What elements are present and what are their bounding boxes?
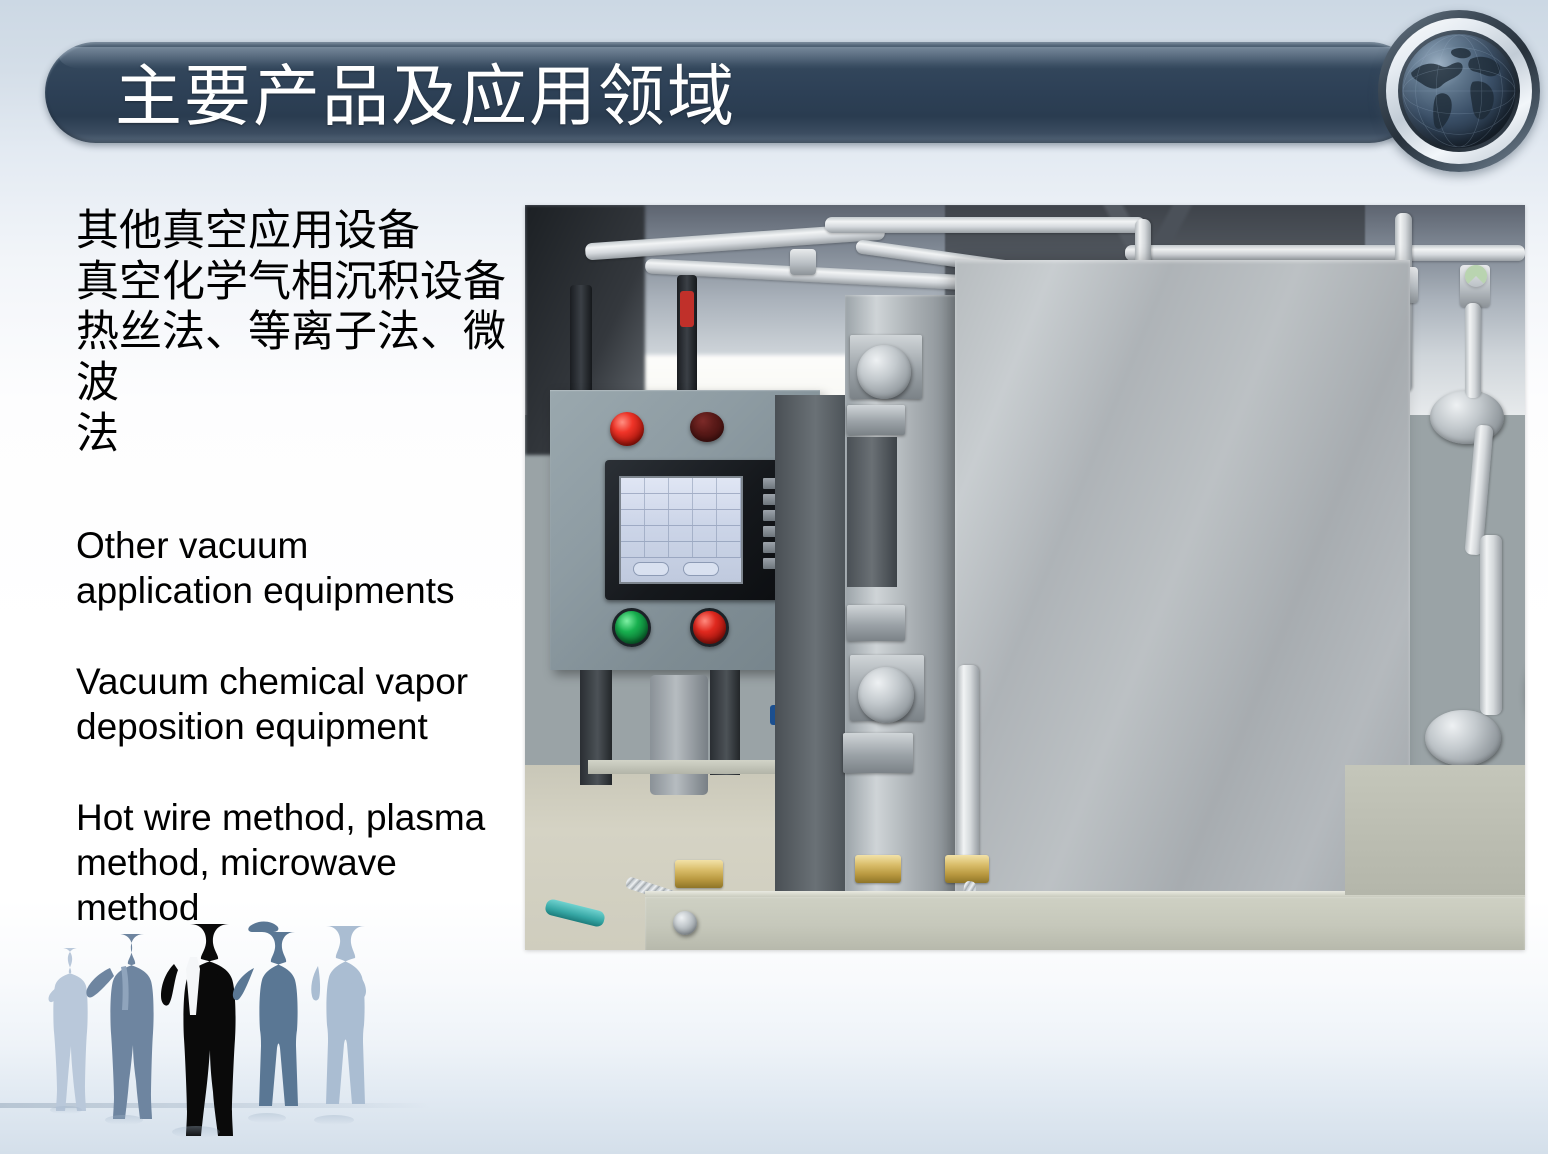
chinese-line-3: 热丝法、等离子法、微波 <box>76 308 516 409</box>
english-line: method, microwave <box>76 840 516 885</box>
hmi-cell <box>621 494 645 509</box>
hmi-table-row <box>621 542 741 558</box>
hmi-cell <box>717 494 741 509</box>
hmi-table-row <box>621 526 741 542</box>
hinge-knob <box>857 345 911 399</box>
machine-lower-panel <box>1345 765 1525 895</box>
door-clamp <box>847 405 905 435</box>
hmi-table-row <box>621 510 741 526</box>
spacer <box>76 613 516 659</box>
hmi-cell <box>645 478 669 493</box>
photo-pipe <box>1480 535 1502 715</box>
slide-canvas: 主要产品及应用领域 <box>0 0 1548 1154</box>
photo-red-valve <box>680 291 694 327</box>
hose-anchor <box>1465 265 1487 287</box>
globe-continents-icon <box>1402 34 1516 148</box>
english-line: application equipments <box>76 568 516 613</box>
hmi-cell <box>621 526 645 541</box>
hmi-cell <box>669 542 693 557</box>
silhouette-reflection <box>172 1126 220 1138</box>
photo-pipe <box>825 217 1145 233</box>
door-clamp <box>843 733 913 773</box>
photo-pipe-fitting <box>790 249 816 275</box>
equipment-photo <box>525 205 1525 950</box>
hmi-cell <box>693 542 717 557</box>
door-seal-strip <box>847 437 897 587</box>
indicator-lamp-dark-red <box>690 412 724 442</box>
slide-title-bar: 主要产品及应用领域 <box>45 42 1420 143</box>
business-people-silhouettes <box>14 904 384 1154</box>
photo-bench <box>588 760 798 774</box>
english-line: Other vacuum <box>76 523 516 568</box>
hmi-cell <box>693 526 717 541</box>
hmi-screen[interactable] <box>619 476 743 584</box>
photo-cylinder <box>650 675 708 795</box>
hmi-cell <box>717 510 741 525</box>
silhouette-reflection <box>314 1115 354 1125</box>
hmi-cell <box>717 542 741 557</box>
hmi-table-row <box>621 494 741 510</box>
globe-sphere <box>1402 34 1516 148</box>
spacer <box>76 749 516 795</box>
machine-base <box>645 895 1525 950</box>
hmi-cell <box>645 494 669 509</box>
side-flange-cap <box>1430 390 1504 444</box>
globe-icon <box>1378 10 1540 172</box>
silhouette-reflection <box>50 1106 82 1114</box>
indicator-lamp-red <box>610 412 644 446</box>
brass-fitting <box>675 860 723 888</box>
hmi-cell <box>669 478 693 493</box>
hmi-cell <box>621 542 645 557</box>
chinese-line-2: 真空化学气相沉积设备 <box>76 258 516 309</box>
photo-pipe <box>1125 245 1525 261</box>
hmi-cell <box>693 510 717 525</box>
silhouette-figure <box>86 934 153 1119</box>
hmi-cell <box>669 526 693 541</box>
push-button-red[interactable] <box>690 608 729 647</box>
hmi-cell <box>693 478 717 493</box>
english-line: Vacuum chemical vapor <box>76 659 516 704</box>
hmi-cell <box>717 526 741 541</box>
silhouette-figure <box>49 948 88 1111</box>
hmi-cell <box>621 478 645 493</box>
silhouette-figure <box>311 926 366 1104</box>
brass-fitting <box>855 855 901 883</box>
hmi-cell <box>645 526 669 541</box>
chinese-line-4: 法 <box>76 410 516 461</box>
side-flange-cap <box>1425 710 1501 766</box>
base-fastener <box>673 911 697 935</box>
photo-service-pipe <box>957 665 979 880</box>
door-clamp <box>847 605 905 641</box>
hmi-cell <box>693 494 717 509</box>
spacer <box>76 461 516 523</box>
hmi-soft-button[interactable] <box>633 562 669 576</box>
hinge-knob <box>858 667 914 723</box>
hmi-cell <box>645 542 669 557</box>
silhouette-reflection <box>105 1115 143 1125</box>
hmi-soft-button[interactable] <box>683 562 719 576</box>
silhouette-figure-primary <box>161 924 236 1136</box>
hmi-cell <box>669 494 693 509</box>
chinese-text-block: 其他真空应用设备 真空化学气相沉积设备 热丝法、等离子法、微波 法 <box>76 207 516 461</box>
hmi-cell <box>669 510 693 525</box>
hmi-cell <box>645 510 669 525</box>
chinese-line-1: 其他真空应用设备 <box>76 207 516 258</box>
english-line: Hot wire method, plasma <box>76 795 516 840</box>
english-block-other-vacuum: Other vacuum application equipments <box>76 523 516 613</box>
hmi-cell <box>621 510 645 525</box>
hmi-cell <box>717 478 741 493</box>
brass-fitting <box>945 855 989 883</box>
hmi-table-row <box>621 478 741 494</box>
vacuum-chamber-door <box>955 260 1410 925</box>
page-title: 主要产品及应用领域 <box>115 42 736 139</box>
photo-pipe <box>1465 303 1481 398</box>
push-button-green[interactable] <box>612 608 651 647</box>
silhouette-reflection <box>248 1113 286 1123</box>
english-block-cvd-equipment: Vacuum chemical vapor deposition equipme… <box>76 659 516 749</box>
hmi-panel[interactable] <box>605 460 785 600</box>
english-line: deposition equipment <box>76 704 516 749</box>
content-text-column: 其他真空应用设备 真空化学气相沉积设备 热丝法、等离子法、微波 法 Other … <box>76 207 516 931</box>
silhouette-figure <box>233 922 298 1107</box>
